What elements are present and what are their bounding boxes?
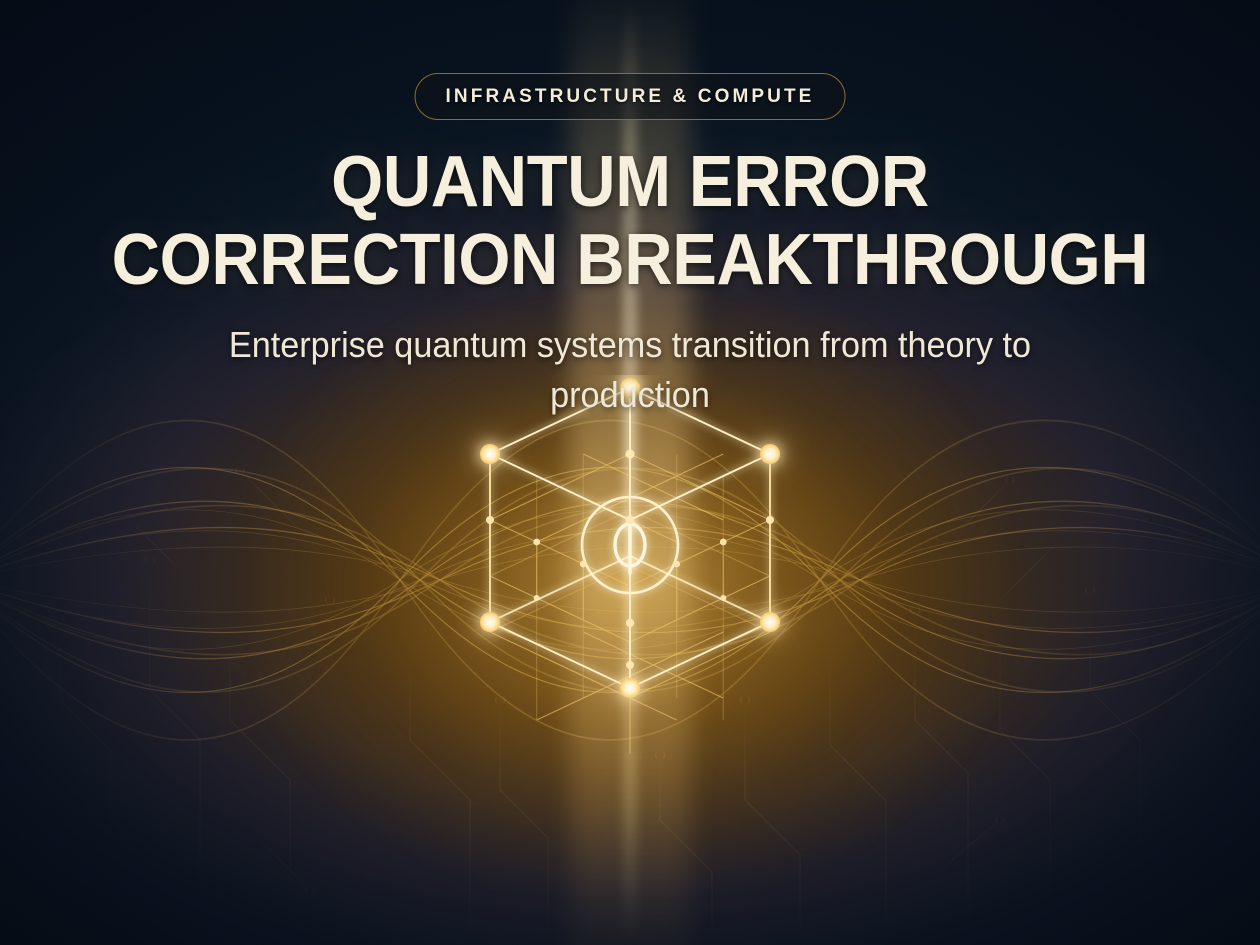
page-subtitle: Enterprise quantum systems transition fr… [155,320,1105,420]
category-badge-label: INFRASTRUCTURE & COMPUTE [446,86,815,108]
hero-title-card: INFRASTRUCTURE & COMPUTE QUANTUM ERROR C… [0,0,1260,945]
page-title: QUANTUM ERROR CORRECTION BREAKTHROUGH [109,143,1151,299]
category-badge: INFRASTRUCTURE & COMPUTE [415,73,846,120]
